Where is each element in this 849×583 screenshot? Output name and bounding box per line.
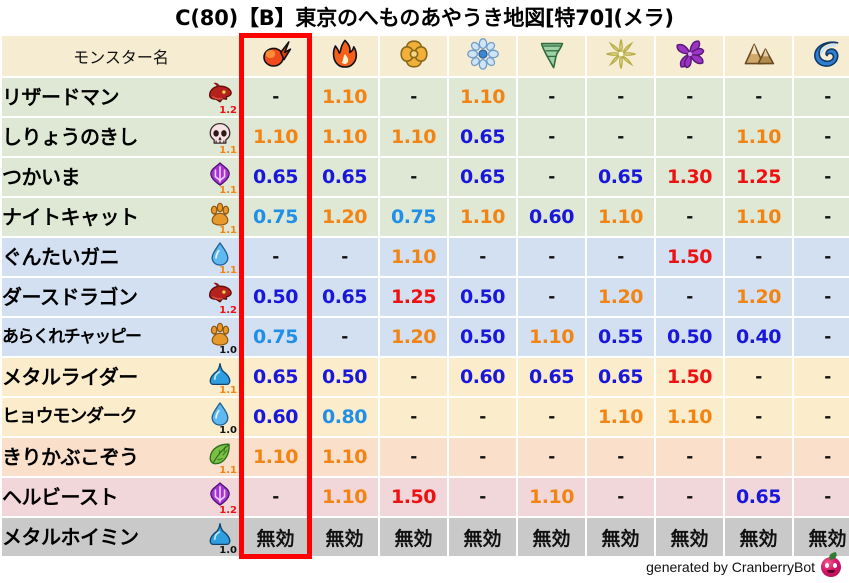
- cell-value: 1.20: [587, 278, 654, 316]
- cell-value: 1.10: [656, 398, 723, 436]
- mountain-jibaria-icon: [743, 38, 775, 74]
- cell-value-none: -: [725, 398, 792, 436]
- cell-value-none: -: [656, 278, 723, 316]
- table-row: ぐんたいガニ1.1--1.10---1.50--: [2, 238, 849, 276]
- cell-value: 1.10: [242, 118, 309, 156]
- cell-value-none: -: [449, 398, 516, 436]
- cell-value: 1.10: [725, 118, 792, 156]
- cell-value-none: -: [587, 438, 654, 476]
- cell-value: 1.20: [725, 278, 792, 316]
- cell-value-none: -: [794, 278, 849, 316]
- cell-value-none: -: [794, 438, 849, 476]
- monster-name-cell[interactable]: リザードマン1.2: [2, 78, 240, 116]
- cell-value-none: -: [794, 118, 849, 156]
- cell-value: 0.65: [449, 158, 516, 196]
- cell-value: 0.65: [311, 158, 378, 196]
- cell-value: 1.10: [449, 198, 516, 236]
- cell-value-none: -: [380, 158, 447, 196]
- attribute-multiplier: 1.2: [219, 106, 237, 116]
- cell-value: 0.65: [725, 478, 792, 516]
- column-header-explosion-io[interactable]: [380, 36, 447, 76]
- attribute-multiplier: 1.0: [219, 546, 237, 556]
- cell-value: 0.65: [311, 278, 378, 316]
- monster-attribute: 1.1: [204, 358, 238, 396]
- cell-value-immune: 無効: [449, 518, 516, 556]
- cell-value: 1.10: [311, 478, 378, 516]
- cell-value-none: -: [587, 118, 654, 156]
- table-row: きりかぶこぞう1.11.101.10-------: [2, 438, 849, 476]
- cell-value-none: -: [656, 438, 723, 476]
- attribute-multiplier: 1.1: [219, 266, 237, 276]
- cell-value: 1.25: [725, 158, 792, 196]
- monster-attribute: 1.0: [204, 318, 238, 356]
- resistance-matrix-table: モンスター名 リザードマン1.2-1.10-1.10-----しりょうのきし1.…: [0, 34, 849, 558]
- cell-value: 0.65: [449, 118, 516, 156]
- cell-value-none: -: [518, 238, 585, 276]
- cranberry-bot-icon: [821, 557, 841, 577]
- cell-value-none: -: [794, 238, 849, 276]
- cell-value-none: -: [380, 78, 447, 116]
- cell-value-none: -: [311, 318, 378, 356]
- attribute-multiplier: 1.1: [219, 386, 237, 396]
- cell-value-immune: 無効: [587, 518, 654, 556]
- cell-value-none: -: [518, 398, 585, 436]
- monster-name-cell[interactable]: ダースドラゴン1.2: [2, 278, 240, 316]
- cell-value: 1.10: [380, 238, 447, 276]
- cell-value: 1.10: [725, 198, 792, 236]
- cell-value-none: -: [449, 478, 516, 516]
- cell-value-none: -: [656, 198, 723, 236]
- monster-attribute: 1.1: [204, 438, 238, 476]
- cell-value-none: -: [242, 478, 309, 516]
- column-header-monster-name: モンスター名: [2, 36, 240, 76]
- cell-value-none: -: [449, 438, 516, 476]
- attribute-multiplier: 1.0: [219, 346, 237, 356]
- cell-value-none: -: [587, 238, 654, 276]
- cell-value: 0.50: [656, 318, 723, 356]
- cell-value: 1.10: [380, 118, 447, 156]
- monster-attribute: 1.2: [204, 278, 238, 316]
- cell-value: 0.60: [242, 398, 309, 436]
- cell-value-none: -: [518, 158, 585, 196]
- monster-name-cell[interactable]: メタルライダー1.1: [2, 358, 240, 396]
- monster-attribute: 1.1: [204, 198, 238, 236]
- column-header-snowflake-hyado[interactable]: [449, 36, 516, 76]
- monster-attribute: 1.2: [204, 478, 238, 516]
- monster-name-cell[interactable]: つかいま1.1: [2, 158, 240, 196]
- cell-value-none: -: [380, 438, 447, 476]
- cell-value: 1.10: [242, 438, 309, 476]
- cell-value-none: -: [794, 158, 849, 196]
- monster-name-cell[interactable]: しりょうのきし1.1: [2, 118, 240, 156]
- cell-value-none: -: [518, 438, 585, 476]
- monster-name-cell[interactable]: ぐんたいガニ1.1: [2, 238, 240, 276]
- cell-value: 1.50: [656, 358, 723, 396]
- table-row: しりょうのきし1.11.101.101.100.65---1.10-: [2, 118, 849, 156]
- cell-value: 0.60: [518, 198, 585, 236]
- pinwheel-doruma-icon: [674, 38, 706, 74]
- cell-value-none: -: [518, 278, 585, 316]
- column-header-wave-water[interactable]: [794, 36, 849, 76]
- cell-value: 0.55: [587, 318, 654, 356]
- table-row: ヘルビースト1.2-1.101.50-1.10--0.65-: [2, 478, 849, 516]
- cell-value-immune: 無効: [725, 518, 792, 556]
- cell-value: 0.40: [725, 318, 792, 356]
- cell-value: 0.65: [587, 158, 654, 196]
- cell-value-none: -: [794, 198, 849, 236]
- table-row: ヒョウモンダーク1.00.600.80---1.101.10--: [2, 398, 849, 436]
- cell-value-none: -: [242, 238, 309, 276]
- table-header-row: モンスター名: [2, 36, 849, 76]
- column-header-tornado-bagi[interactable]: [518, 36, 585, 76]
- cell-value-none: -: [794, 358, 849, 396]
- cell-value-none: -: [311, 238, 378, 276]
- cell-value: 1.10: [311, 118, 378, 156]
- cell-value-none: -: [449, 238, 516, 276]
- cell-value-none: -: [794, 478, 849, 516]
- monster-attribute: 1.1: [204, 118, 238, 156]
- cell-value: 1.50: [656, 238, 723, 276]
- starburst-dein-icon: [605, 38, 637, 74]
- snowflake-hyado-icon: [467, 38, 499, 74]
- table-row: メタルライダー1.10.650.50-0.600.650.651.50--: [2, 358, 849, 396]
- cell-value: 1.10: [311, 78, 378, 116]
- cell-value-none: -: [656, 478, 723, 516]
- cell-value-immune: 無効: [242, 518, 309, 556]
- table-body: リザードマン1.2-1.10-1.10-----しりょうのきし1.11.101.…: [2, 78, 849, 556]
- cell-value-immune: 無効: [656, 518, 723, 556]
- cell-value-none: -: [518, 118, 585, 156]
- column-header-pinwheel-doruma[interactable]: [656, 36, 723, 76]
- monster-name-cell[interactable]: ナイトキャット1.1: [2, 198, 240, 236]
- cell-value-none: -: [656, 118, 723, 156]
- cell-value: 1.20: [311, 198, 378, 236]
- cell-value-none: -: [380, 398, 447, 436]
- cell-value: 1.10: [587, 398, 654, 436]
- table-row: ナイトキャット1.10.751.200.751.100.601.10-1.10-: [2, 198, 849, 236]
- cell-value-immune: 無効: [794, 518, 849, 556]
- cell-value: 0.65: [587, 358, 654, 396]
- attribute-multiplier: 1.1: [219, 226, 237, 236]
- tornado-bagi-icon: [536, 38, 568, 74]
- attribute-multiplier: 1.1: [219, 186, 237, 196]
- cell-value: 0.50: [242, 278, 309, 316]
- cell-value: 0.80: [311, 398, 378, 436]
- cell-value-none: -: [587, 78, 654, 116]
- cell-value-none: -: [242, 78, 309, 116]
- explosion-io-icon: [398, 38, 430, 74]
- cell-value-immune: 無効: [311, 518, 378, 556]
- table-row: ダースドラゴン1.20.500.651.250.50-1.20-1.20-: [2, 278, 849, 316]
- monster-attribute: 1.2: [204, 78, 238, 116]
- fireball-mera-icon: [260, 38, 292, 74]
- column-header-starburst-dein[interactable]: [587, 36, 654, 76]
- table-row: メタルホイミン1.0無効無効無効無効無効無効無効無効無効: [2, 518, 849, 556]
- cell-value: 1.10: [518, 478, 585, 516]
- monster-name-cell[interactable]: メタルホイミン1.0: [2, 518, 240, 556]
- monster-attribute: 1.1: [204, 158, 238, 196]
- page-title: C(80)【B】東京のへものあやうき地図[特70](メラ): [0, 0, 849, 33]
- cell-value-none: -: [725, 238, 792, 276]
- table-row: あらくれチャッピー1.00.75-1.200.501.100.550.500.4…: [2, 318, 849, 356]
- cell-value-none: -: [380, 358, 447, 396]
- cell-value: 1.10: [587, 198, 654, 236]
- footer-credit: generated by CranberryBot: [646, 557, 841, 577]
- cell-value-none: -: [794, 78, 849, 116]
- cell-value-none: -: [587, 478, 654, 516]
- chart-page: C(80)【B】東京のへものあやうき地図[特70](メラ) モンスター名 リザー…: [0, 0, 849, 583]
- cell-value-immune: 無効: [518, 518, 585, 556]
- cell-value: 1.10: [449, 78, 516, 116]
- attribute-multiplier: 1.1: [219, 466, 237, 476]
- monster-attribute: 1.0: [204, 398, 238, 436]
- attribute-multiplier: 1.0: [219, 426, 237, 436]
- attribute-multiplier: 1.2: [219, 306, 237, 316]
- monster-name-cell[interactable]: ヘルビースト1.2: [2, 478, 240, 516]
- cell-value: 1.25: [380, 278, 447, 316]
- cell-value: 0.60: [449, 358, 516, 396]
- cell-value-none: -: [725, 358, 792, 396]
- cell-value: 1.30: [656, 158, 723, 196]
- cell-value: 0.65: [518, 358, 585, 396]
- column-header-fireball-mera[interactable]: [242, 36, 309, 76]
- monster-name-cell[interactable]: ヒョウモンダーク1.0: [2, 398, 240, 436]
- table-row: リザードマン1.2-1.10-1.10-----: [2, 78, 849, 116]
- cell-value: 0.50: [449, 278, 516, 316]
- cell-value-none: -: [725, 438, 792, 476]
- monster-attribute: 1.0: [204, 518, 238, 556]
- cell-value-none: -: [725, 78, 792, 116]
- cell-value-none: -: [794, 318, 849, 356]
- cell-value: 1.10: [311, 438, 378, 476]
- column-header-mountain-jibaria[interactable]: [725, 36, 792, 76]
- cell-value: 1.50: [380, 478, 447, 516]
- cell-value-none: -: [794, 398, 849, 436]
- attribute-multiplier: 1.2: [219, 506, 237, 516]
- cell-value-none: -: [518, 78, 585, 116]
- monster-attribute: 1.1: [204, 238, 238, 276]
- cell-value: 0.75: [380, 198, 447, 236]
- cell-value: 0.65: [242, 158, 309, 196]
- wave-water-icon: [812, 38, 844, 74]
- attribute-multiplier: 1.1: [219, 146, 237, 156]
- cell-value-immune: 無効: [380, 518, 447, 556]
- table-row: つかいま1.10.650.65-0.65-0.651.301.25-: [2, 158, 849, 196]
- cell-value-none: -: [656, 78, 723, 116]
- flame-gira-icon: [329, 38, 361, 74]
- column-header-flame-gira[interactable]: [311, 36, 378, 76]
- monster-name-cell[interactable]: きりかぶこぞう1.1: [2, 438, 240, 476]
- table-header: モンスター名: [2, 36, 849, 76]
- cell-value: 0.50: [311, 358, 378, 396]
- cell-value: 0.75: [242, 318, 309, 356]
- cell-value: 0.75: [242, 198, 309, 236]
- cell-value: 0.50: [449, 318, 516, 356]
- cell-value: 1.10: [518, 318, 585, 356]
- monster-name-cell[interactable]: あらくれチャッピー1.0: [2, 318, 240, 356]
- cell-value: 0.65: [242, 358, 309, 396]
- footer-text: generated by CranberryBot: [646, 559, 815, 575]
- cell-value: 1.20: [380, 318, 447, 356]
